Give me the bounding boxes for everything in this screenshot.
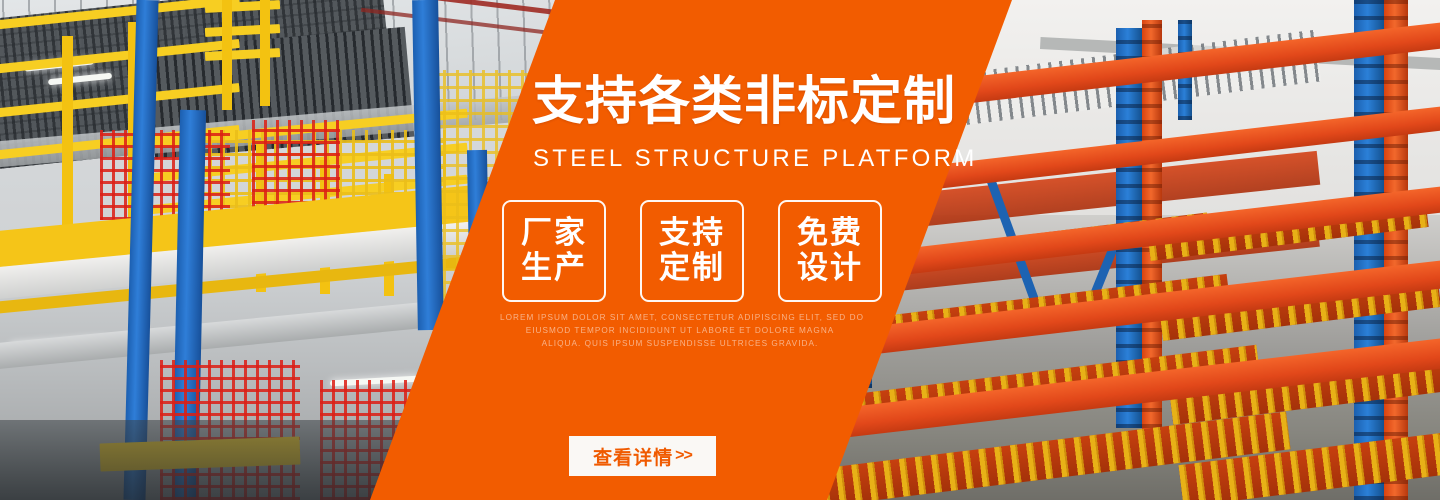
promo-banner: 支持各类非标定制 STEEL STRUCTURE PLATFORM 厂家 生产 … xyxy=(0,0,1440,500)
feature-tag-line2: 生产 xyxy=(521,251,587,286)
feature-tag-list: 厂家 生产 支持 定制 免费 设计 xyxy=(502,200,882,302)
banner-headline: 支持各类非标定制 xyxy=(532,74,962,130)
feature-tag-line1: 支持 xyxy=(659,216,725,251)
feature-tag-manufacturer[interactable]: 厂家 生产 xyxy=(502,200,606,302)
view-details-label: 查看详情 xyxy=(593,443,673,470)
feature-tag-line2: 设计 xyxy=(797,251,863,286)
description-line-1: LOREM IPSUM DOLOR SIT AMET, CONSECTETUR … xyxy=(500,311,860,324)
feature-tag-line2: 定制 xyxy=(659,251,725,286)
feature-tag-line1: 厂家 xyxy=(521,216,587,251)
banner-content: 支持各类非标定制 STEEL STRUCTURE PLATFORM 厂家 生产 … xyxy=(0,0,1440,500)
description-line-3: ALIQUA. QUIS IPSUM SUSPENDISSE ULTRICES … xyxy=(500,337,860,350)
banner-description: LOREM IPSUM DOLOR SIT AMET, CONSECTETUR … xyxy=(500,311,860,350)
feature-tag-customization[interactable]: 支持 定制 xyxy=(640,200,744,302)
feature-tag-line1: 免费 xyxy=(797,216,863,251)
feature-tag-free-design[interactable]: 免费 设计 xyxy=(778,200,882,302)
description-line-2: EIUSMOD TEMPOR INCIDIDUNT UT LABORE ET D… xyxy=(500,324,860,337)
view-details-button[interactable]: 查看详情 >> xyxy=(569,436,716,476)
double-chevron-right-icon: >> xyxy=(675,447,692,465)
banner-subtitle: STEEL STRUCTURE PLATFORM xyxy=(533,145,953,173)
